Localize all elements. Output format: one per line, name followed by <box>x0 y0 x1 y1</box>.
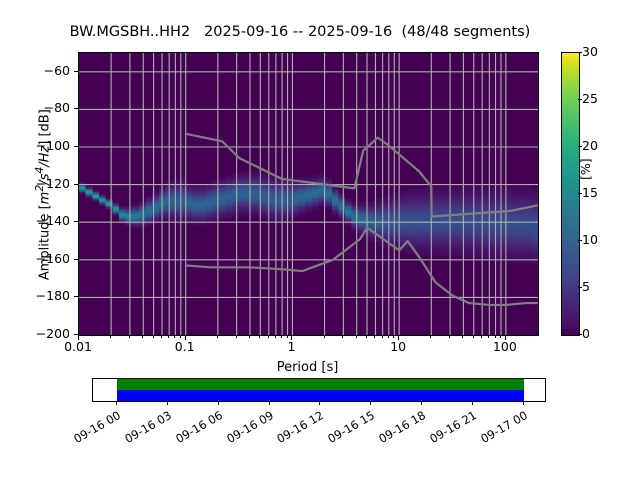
histogram-cell <box>305 203 312 205</box>
histogram-cell <box>518 235 525 237</box>
histogram-cell <box>511 247 518 249</box>
histogram-cell <box>465 249 472 251</box>
histogram-cell <box>531 254 538 256</box>
histogram-cell <box>418 230 425 232</box>
histogram-cell <box>452 194 459 196</box>
histogram-cell <box>185 188 192 190</box>
histogram-cell <box>332 207 339 209</box>
histogram-cell <box>452 192 459 194</box>
histogram-cell <box>378 226 385 228</box>
histogram-cell <box>86 190 93 192</box>
histogram-cell <box>531 250 538 252</box>
timeline-tick-label: 09-16 15 <box>317 408 378 451</box>
histogram-cell <box>392 202 399 204</box>
histogram-cell <box>471 226 478 228</box>
histogram-cell <box>245 211 252 213</box>
histogram-cell <box>299 202 306 204</box>
histogram-cell <box>478 247 485 249</box>
histogram-cell <box>511 249 518 251</box>
histogram-cell <box>491 247 498 249</box>
histogram-cell <box>478 192 485 194</box>
histogram-cell <box>432 200 439 202</box>
histogram-cell <box>511 233 518 235</box>
histogram-cell <box>199 213 206 215</box>
histogram-cell <box>99 200 106 202</box>
histogram-cell <box>405 237 412 239</box>
histogram-cell <box>531 252 538 254</box>
histogram-cell <box>239 194 246 196</box>
histogram-cell <box>485 202 492 204</box>
histogram-cell <box>299 186 306 188</box>
histogram-cell <box>452 202 459 204</box>
histogram-cell <box>332 205 339 207</box>
histogram-cell <box>531 188 538 190</box>
histogram-cell <box>299 200 306 202</box>
histogram-cell <box>225 211 232 213</box>
histogram-cell <box>511 213 518 215</box>
histogram-cell <box>252 186 259 188</box>
histogram-cell <box>525 192 532 194</box>
histogram-cell <box>192 211 199 213</box>
histogram-cell <box>418 232 425 234</box>
histogram-cell <box>531 237 538 239</box>
histogram-cell <box>358 224 365 226</box>
histogram-cell <box>352 230 359 232</box>
histogram-cell <box>179 194 186 196</box>
histogram-cell <box>511 254 518 256</box>
x-tick-mark-minor <box>236 335 237 338</box>
histogram-cell <box>192 224 199 226</box>
histogram-cell <box>192 188 199 190</box>
histogram-cell <box>219 217 226 219</box>
ppsd-plot-area[interactable] <box>78 52 539 336</box>
histogram-cell <box>418 217 425 219</box>
histogram-cell <box>205 203 212 205</box>
histogram-cell <box>491 232 498 234</box>
timeline-segment-green <box>117 379 524 390</box>
histogram-cell <box>126 209 133 211</box>
histogram-cell <box>132 217 139 219</box>
histogram-cell <box>432 190 439 192</box>
histogram-cell <box>452 205 459 207</box>
histogram-cell <box>312 192 319 194</box>
histogram-cell <box>332 196 339 198</box>
histogram-cell <box>225 215 232 217</box>
colorbar-tick-mark <box>578 240 582 241</box>
histogram-cell <box>252 202 259 204</box>
histogram-cell <box>438 218 445 220</box>
x-tick-mark-minor <box>249 335 250 338</box>
histogram-cell <box>205 188 212 190</box>
timeline-tick-label: 09-16 12 <box>266 408 327 451</box>
histogram-cell <box>412 237 419 239</box>
histogram-cell <box>452 241 459 243</box>
histogram-cell <box>471 241 478 243</box>
histogram-cell <box>432 235 439 237</box>
x-tick-label: 0.01 <box>38 339 118 354</box>
histogram-cell <box>471 207 478 209</box>
histogram-cell <box>219 196 226 198</box>
histogram-cell <box>312 186 319 188</box>
histogram-cell <box>478 188 485 190</box>
histogram-cell <box>139 217 146 219</box>
histogram-cell <box>225 175 232 177</box>
histogram-cell <box>119 209 126 211</box>
histogram-cell <box>185 202 192 204</box>
histogram-cell <box>299 177 306 179</box>
histogram-cell <box>192 192 199 194</box>
histogram-cell <box>531 235 538 237</box>
histogram-cell <box>412 230 419 232</box>
histogram-cell <box>239 196 246 198</box>
histogram-cell <box>338 207 345 209</box>
histogram-cell <box>345 224 352 226</box>
histogram-cell <box>325 202 332 204</box>
histogram-cell <box>205 200 212 202</box>
histogram-cell <box>365 211 372 213</box>
histogram-cell <box>485 239 492 241</box>
histogram-cell <box>518 202 525 204</box>
histogram-cell <box>452 224 459 226</box>
histogram-cell <box>485 233 492 235</box>
histogram-cell <box>325 207 332 209</box>
histogram-cell <box>219 190 226 192</box>
histogram-cell <box>99 196 106 198</box>
histogram-cell <box>531 200 538 202</box>
histogram-cell <box>352 211 359 213</box>
histogram-cell <box>352 203 359 205</box>
histogram-cell <box>132 207 139 209</box>
histogram-cell <box>352 213 359 215</box>
histogram-cell <box>438 200 445 202</box>
histogram-cell <box>119 218 126 220</box>
x-tick-mark-minor <box>495 335 496 338</box>
histogram-cell <box>491 233 498 235</box>
histogram-cell <box>352 215 359 217</box>
histogram-cell <box>438 252 445 254</box>
x-tick-mark-minor <box>287 335 288 338</box>
x-tick-mark-minor <box>356 335 357 338</box>
histogram-cell <box>285 211 292 213</box>
histogram-cell <box>146 213 153 215</box>
histogram-cell <box>511 243 518 245</box>
histogram-cell <box>525 254 532 256</box>
histogram-cell <box>418 250 425 252</box>
histogram-cell <box>392 203 399 205</box>
histogram-cell <box>232 177 239 179</box>
histogram-cell <box>392 205 399 207</box>
histogram-cell <box>425 252 432 254</box>
histogram-cell <box>412 224 419 226</box>
histogram-cell <box>112 211 119 213</box>
histogram-cell <box>471 224 478 226</box>
histogram-cell <box>471 209 478 211</box>
x-tick-mark-minor <box>259 335 260 338</box>
histogram-cell <box>418 203 425 205</box>
x-tick-mark-minor <box>110 335 111 338</box>
histogram-cell <box>452 247 459 249</box>
histogram-cell <box>471 252 478 254</box>
histogram-cell <box>511 198 518 200</box>
histogram-cell <box>525 239 532 241</box>
histogram-cell <box>412 196 419 198</box>
histogram-cell <box>245 209 252 211</box>
histogram-cell <box>392 237 399 239</box>
histogram-cell <box>185 198 192 200</box>
histogram-cell <box>332 215 339 217</box>
histogram-cell <box>465 194 472 196</box>
histogram-cell <box>219 179 226 181</box>
histogram-cell <box>405 209 412 211</box>
histogram-cell <box>338 192 345 194</box>
histogram-cell <box>525 202 532 204</box>
histogram-cell <box>452 235 459 237</box>
histogram-cell <box>192 196 199 198</box>
histogram-cell <box>252 213 259 215</box>
histogram-cell <box>245 196 252 198</box>
histogram-cell <box>185 207 192 209</box>
histogram-cell <box>259 188 266 190</box>
histogram-cell <box>392 200 399 202</box>
histogram-cell <box>471 247 478 249</box>
x-tick-mark-minor <box>142 335 143 338</box>
histogram-cell <box>239 198 246 200</box>
histogram-cell <box>358 209 365 211</box>
y-tick-label: −80 <box>4 100 70 115</box>
histogram-cell <box>511 241 518 243</box>
histogram-cell <box>225 213 232 215</box>
timeline-tick-mark <box>421 401 422 405</box>
colorbar-tick-mark <box>578 99 582 100</box>
histogram-cell <box>285 198 292 200</box>
histogram-cell <box>531 217 538 219</box>
histogram-cell <box>425 237 432 239</box>
histogram-cell <box>245 175 252 177</box>
histogram-cell <box>378 224 385 226</box>
histogram-cell <box>365 217 372 219</box>
histogram-cell <box>378 211 385 213</box>
histogram-cell <box>225 202 232 204</box>
histogram-cell <box>525 213 532 215</box>
x-tick-mark-minor <box>488 335 489 338</box>
histogram-cell <box>452 232 459 234</box>
histogram-cell <box>511 262 518 264</box>
histogram-cell <box>418 211 425 213</box>
timeline-tick-mark <box>472 401 473 405</box>
histogram-cell <box>219 202 226 204</box>
timeline-tick-label: 09-16 03 <box>113 408 174 451</box>
histogram-cell <box>485 196 492 198</box>
histogram-cell <box>259 215 266 217</box>
histogram-cell <box>425 232 432 234</box>
histogram-cell <box>405 228 412 230</box>
histogram-cell <box>179 179 186 181</box>
histogram-cell <box>92 190 99 192</box>
histogram-cell <box>139 202 146 204</box>
histogram-cell <box>305 205 312 207</box>
histogram-cell <box>312 188 319 190</box>
histogram-cell <box>518 190 525 192</box>
histogram-cell <box>511 200 518 202</box>
timeline-tick-label: 09-17 00 <box>469 408 530 451</box>
data-coverage-timeline[interactable] <box>92 378 546 402</box>
histogram-cell <box>425 245 432 247</box>
histogram-cell <box>491 224 498 226</box>
histogram-cell <box>438 226 445 228</box>
histogram-cell <box>531 232 538 234</box>
histogram-cell <box>378 232 385 234</box>
histogram-cell <box>358 211 365 213</box>
histogram-cell <box>378 217 385 219</box>
histogram-cell <box>432 250 439 252</box>
histogram-cell <box>259 209 266 211</box>
histogram-cell <box>232 173 239 175</box>
histogram-cell <box>299 213 306 215</box>
histogram-cell <box>418 249 425 251</box>
histogram-cell <box>245 179 252 181</box>
histogram-cell <box>259 205 266 207</box>
colorbar-tick-label: 15 <box>582 185 622 200</box>
histogram-cell <box>438 247 445 249</box>
histogram-cell <box>392 215 399 217</box>
histogram-cell <box>465 192 472 194</box>
histogram-cell <box>272 205 279 207</box>
histogram-cell <box>418 205 425 207</box>
histogram-cell <box>465 188 472 190</box>
histogram-cell <box>259 177 266 179</box>
histogram-cell <box>219 213 226 215</box>
histogram-cell <box>219 192 226 194</box>
histogram-cell <box>511 230 518 232</box>
histogram-cell <box>452 249 459 251</box>
histogram-cell <box>252 196 259 198</box>
timeline-tick-mark <box>370 401 371 405</box>
histogram-cell <box>531 215 538 217</box>
colorbar-tick-mark <box>578 334 582 335</box>
histogram-cell <box>325 186 332 188</box>
histogram-cell <box>531 211 538 213</box>
histogram-cell <box>418 202 425 204</box>
histogram-cell <box>365 202 372 204</box>
histogram-cell <box>285 200 292 202</box>
histogram-cell <box>305 196 312 198</box>
histogram-cell <box>305 188 312 190</box>
histogram-cell <box>531 218 538 220</box>
histogram-cell <box>432 198 439 200</box>
plot-title: BW.MGSBH..HH2 2025-09-16 -- 2025-09-16 (… <box>0 24 600 40</box>
histogram-cell <box>525 203 532 205</box>
histogram-cell <box>179 215 186 217</box>
histogram-cell <box>491 228 498 230</box>
histogram-cell <box>485 188 492 190</box>
histogram-cell <box>432 186 439 188</box>
histogram-cell <box>525 247 532 249</box>
histogram-cell <box>232 198 239 200</box>
histogram-cell <box>531 249 538 251</box>
histogram-cell <box>518 239 525 241</box>
histogram-cell <box>146 218 153 220</box>
histogram-cell <box>465 250 472 252</box>
histogram-cell <box>205 202 212 204</box>
histogram-cell <box>531 228 538 230</box>
histogram-cell <box>485 243 492 245</box>
histogram-cell <box>199 205 206 207</box>
histogram-cell <box>239 213 246 215</box>
histogram-cell <box>332 198 339 200</box>
histogram-cell <box>219 215 226 217</box>
histogram-cell <box>478 228 485 230</box>
histogram-cell <box>239 186 246 188</box>
histogram-cell <box>285 213 292 215</box>
histogram-cell <box>245 171 252 173</box>
colorbar-tick-mark <box>578 193 582 194</box>
histogram-cell <box>518 256 525 258</box>
histogram-cell <box>525 237 532 239</box>
histogram-cell <box>491 207 498 209</box>
histogram-cell <box>126 211 133 213</box>
histogram-cell <box>232 175 239 177</box>
histogram-cell <box>491 198 498 200</box>
histogram-cell <box>126 205 133 207</box>
histogram-cell <box>86 188 93 190</box>
histogram-cell <box>491 243 498 245</box>
histogram-cell <box>405 217 412 219</box>
histogram-cell <box>252 173 259 175</box>
histogram-cell <box>511 224 518 226</box>
histogram-cell <box>478 254 485 256</box>
histogram-cell <box>418 194 425 196</box>
histogram-cell <box>272 194 279 196</box>
histogram-cell <box>418 252 425 254</box>
histogram-cell <box>332 203 339 205</box>
histogram-cell <box>252 198 259 200</box>
histogram-cell <box>518 211 525 213</box>
histogram-cell <box>531 226 538 228</box>
histogram-cell <box>192 207 199 209</box>
histogram-cell <box>412 226 419 228</box>
histogram-cell <box>438 228 445 230</box>
histogram-cell <box>139 218 146 220</box>
histogram-cell <box>531 192 538 194</box>
histogram-cell <box>358 226 365 228</box>
histogram-cell <box>471 237 478 239</box>
histogram-cell <box>432 249 439 251</box>
histogram-cell <box>378 228 385 230</box>
histogram-cell <box>412 209 419 211</box>
histogram-cell <box>518 198 525 200</box>
histogram-cell <box>79 186 86 188</box>
x-tick-mark-major <box>398 335 399 340</box>
colorbar[interactable] <box>561 52 580 336</box>
histogram-cell <box>405 233 412 235</box>
histogram-cell <box>378 218 385 220</box>
histogram-cell <box>418 247 425 249</box>
histogram-cell <box>358 217 365 219</box>
histogram-cell <box>199 186 206 188</box>
histogram-cell <box>425 249 432 251</box>
histogram-cell <box>465 230 472 232</box>
histogram-cell <box>239 179 246 181</box>
histogram-cell <box>199 198 206 200</box>
histogram-cell <box>471 230 478 232</box>
histogram-cell <box>438 213 445 215</box>
histogram-cell <box>412 211 419 213</box>
histogram-cell <box>465 252 472 254</box>
histogram-cell <box>525 235 532 237</box>
histogram-cell <box>245 203 252 205</box>
x-tick-mark-minor <box>473 335 474 338</box>
histogram-cell <box>525 233 532 235</box>
